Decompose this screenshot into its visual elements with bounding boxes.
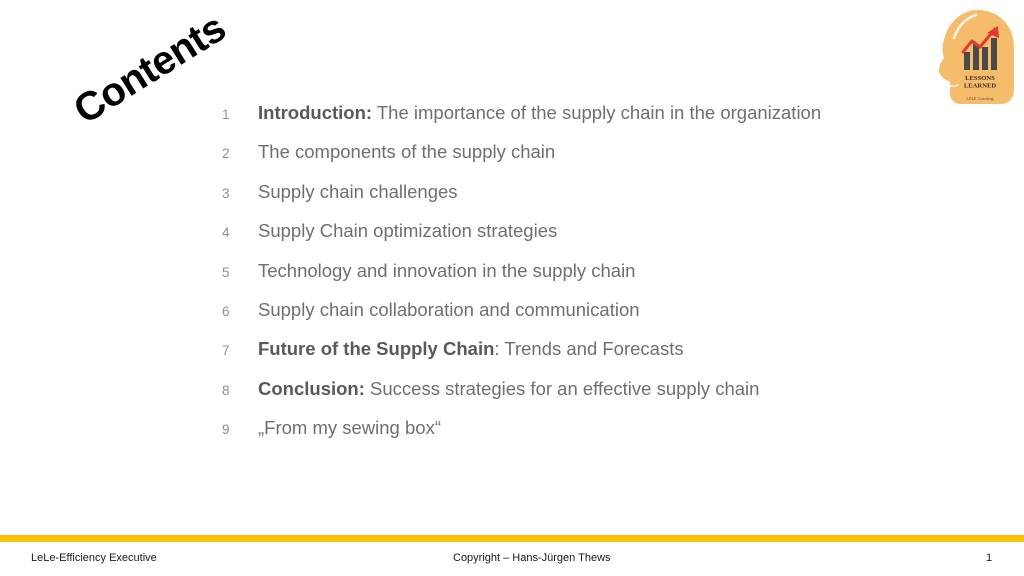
- list-item-number: 6: [222, 305, 258, 319]
- list-item-label: Introduction: The importance of the supp…: [258, 104, 821, 123]
- list-item-label: Supply chain challenges: [258, 183, 458, 202]
- list-item-number: 5: [222, 266, 258, 280]
- slide-canvas: Contents 1 Introduction: The importance …: [0, 0, 1024, 576]
- list-item[interactable]: 4 Supply Chain optimization strategies: [222, 222, 962, 261]
- list-item-number: 7: [222, 344, 258, 358]
- footer-page-number: 1: [986, 552, 992, 564]
- list-item-label-rest: „From my sewing box“: [258, 417, 441, 438]
- list-item-label: Supply Chain optimization strategies: [258, 222, 557, 241]
- list-item-label-rest: Supply chain collaboration and communica…: [258, 299, 640, 320]
- list-item-label-bold: Future of the Supply Chain: [258, 338, 494, 359]
- list-item-number: 3: [222, 187, 258, 201]
- list-item-label: Supply chain collaboration and communica…: [258, 301, 640, 320]
- list-item-label-rest: Technology and innovation in the supply …: [258, 260, 635, 281]
- footer-accent-bar: [0, 535, 1024, 542]
- list-item-label: „From my sewing box“: [258, 419, 441, 438]
- list-item-label-rest: The components of the supply chain: [258, 141, 555, 162]
- list-item-number: 4: [222, 226, 258, 240]
- contents-list: 1 Introduction: The importance of the su…: [222, 104, 962, 459]
- list-item-label-rest: : Trends and Forecasts: [494, 338, 683, 359]
- list-item[interactable]: 6 Supply chain collaboration and communi…: [222, 301, 962, 340]
- list-item-label: Conclusion: Success strategies for an ef…: [258, 380, 759, 399]
- list-item[interactable]: 2 The components of the supply chain: [222, 143, 962, 182]
- footer-brand: LeLe-Efficiency Executive: [31, 552, 157, 564]
- logo-tagline: LELE Coaching: [966, 96, 994, 101]
- page-title: Contents: [67, 7, 232, 131]
- list-item-number: 8: [222, 384, 258, 398]
- list-item-label-bold: Introduction:: [258, 102, 372, 123]
- list-item-number: 1: [222, 108, 258, 122]
- lessons-learned-head-icon: LESSONS LEARNED LELE Coaching: [932, 8, 1020, 112]
- list-item[interactable]: 3 Supply chain challenges: [222, 183, 962, 222]
- logo-line1: LESSONS: [965, 75, 995, 82]
- list-item-number: 9: [222, 423, 258, 437]
- logo-line2: LEARNED: [964, 83, 996, 90]
- list-item[interactable]: 1 Introduction: The importance of the su…: [222, 104, 962, 143]
- list-item-label: Technology and innovation in the supply …: [258, 262, 635, 281]
- list-item[interactable]: 5 Technology and innovation in the suppl…: [222, 262, 962, 301]
- list-item-label-rest: Supply Chain optimization strategies: [258, 220, 557, 241]
- list-item-number: 2: [222, 147, 258, 161]
- list-item[interactable]: 7 Future of the Supply Chain: Trends and…: [222, 340, 962, 379]
- list-item-label-rest: Success strategies for an effective supp…: [365, 378, 760, 399]
- list-item-label-rest: The importance of the supply chain in th…: [372, 102, 821, 123]
- list-item-label-bold: Conclusion:: [258, 378, 365, 399]
- list-item-label: The components of the supply chain: [258, 143, 555, 162]
- list-item-label: Future of the Supply Chain: Trends and F…: [258, 340, 684, 359]
- list-item-label-rest: Supply chain challenges: [258, 181, 458, 202]
- list-item[interactable]: 8 Conclusion: Success strategies for an …: [222, 380, 962, 419]
- list-item[interactable]: 9 „From my sewing box“: [222, 419, 962, 458]
- footer: LeLe-Efficiency Executive Copyright – Ha…: [0, 545, 1024, 576]
- footer-copyright: Copyright – Hans-Jürgen Thews: [453, 552, 611, 564]
